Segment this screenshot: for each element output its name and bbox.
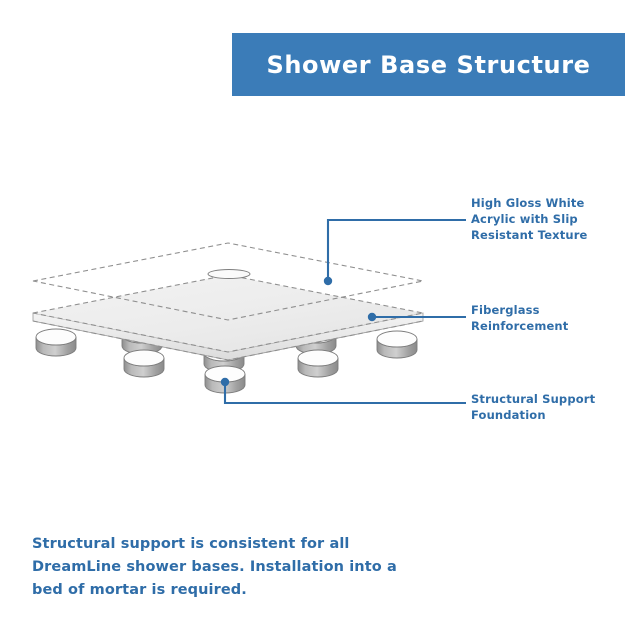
support-cylinder <box>36 329 76 356</box>
leader-dot-foundation <box>221 378 229 386</box>
footer-caption: Structural support is consistent for all… <box>32 533 432 602</box>
callout-label-acrylic: High Gloss White Acrylic with Slip Resis… <box>471 196 621 244</box>
drain-icon <box>208 270 250 279</box>
leader-line-foundation <box>221 378 466 403</box>
callout-label-fiberglass: Fiberglass Reinforcement <box>471 303 621 335</box>
fiberglass-slab <box>33 275 423 360</box>
leader-dot-fiberglass <box>368 313 376 321</box>
leader-dot-acrylic <box>324 277 332 285</box>
support-cylinder <box>298 350 338 377</box>
illustration-canvas: Shower Base Structure <box>0 0 625 625</box>
callout-label-foundation: Structural Support Foundation <box>471 392 621 424</box>
support-cylinder <box>124 350 164 377</box>
support-cylinder <box>377 331 417 358</box>
